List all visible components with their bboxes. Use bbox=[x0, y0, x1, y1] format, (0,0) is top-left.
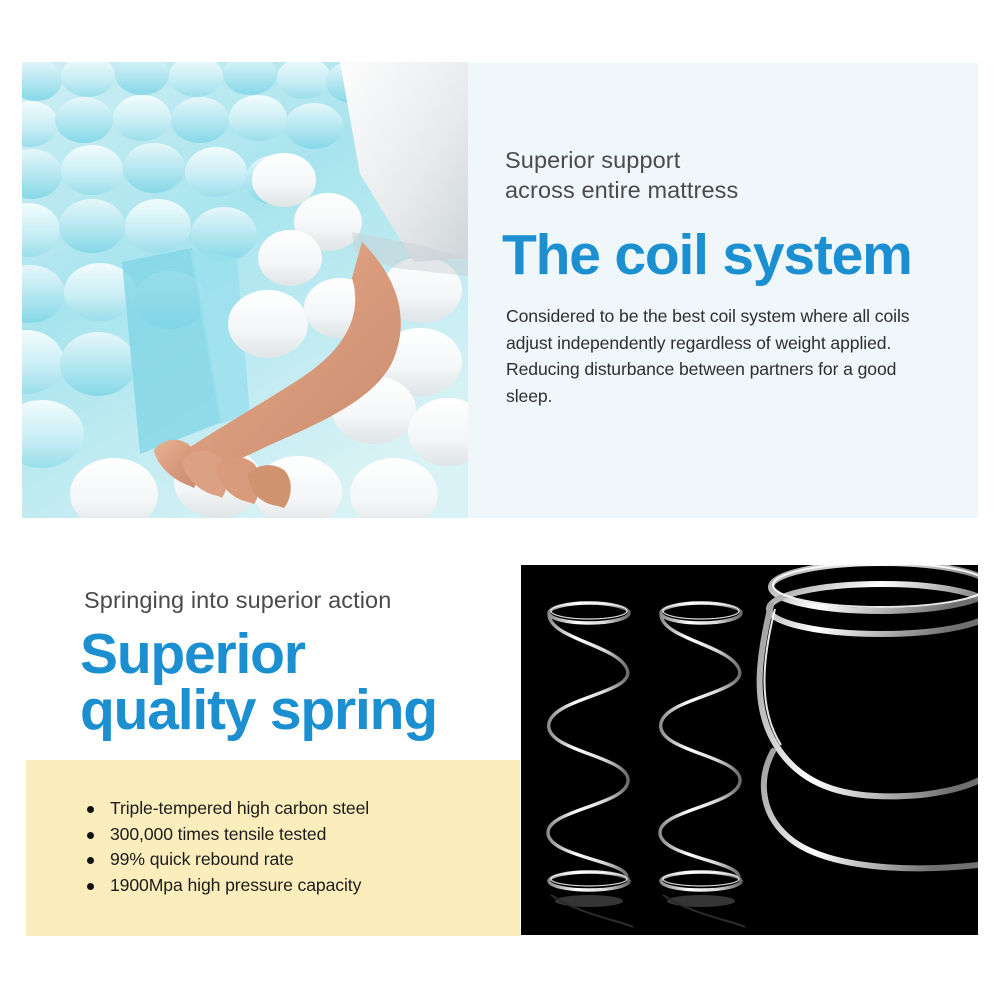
spring-photo bbox=[521, 565, 978, 935]
product-feature-page: Superior support across entire mattress … bbox=[0, 0, 1000, 1000]
spring-spec-list: Triple-tempered high carbon steel 300,00… bbox=[84, 796, 369, 898]
spring-specs-panel: Triple-tempered high carbon steel 300,00… bbox=[26, 760, 520, 936]
list-item: 99% quick rebound rate bbox=[84, 847, 369, 873]
spring-quality-title: Superior quality spring bbox=[80, 626, 510, 738]
coil-system-body-text: Considered to be the best coil system wh… bbox=[506, 303, 926, 409]
coil-eyebrow-line1: Superior support bbox=[505, 145, 935, 175]
mattress-photo-illustration bbox=[22, 62, 468, 518]
coil-system-text-panel: Superior support across entire mattress … bbox=[468, 63, 978, 518]
spring-title-line2: quality spring bbox=[80, 682, 510, 738]
spring-title-line1: Superior bbox=[80, 626, 510, 682]
spring-eyebrow: Springing into superior action bbox=[84, 585, 391, 615]
spring-photo-illustration bbox=[521, 565, 978, 935]
coil-system-title: The coil system bbox=[502, 226, 972, 284]
list-item: 300,000 times tensile tested bbox=[84, 822, 369, 848]
coil-eyebrow-line2: across entire mattress bbox=[505, 175, 935, 205]
mattress-coil-photo bbox=[22, 62, 468, 518]
list-item: Triple-tempered high carbon steel bbox=[84, 796, 369, 822]
list-item: 1900Mpa high pressure capacity bbox=[84, 873, 369, 899]
coil-eyebrow: Superior support across entire mattress bbox=[505, 145, 935, 205]
